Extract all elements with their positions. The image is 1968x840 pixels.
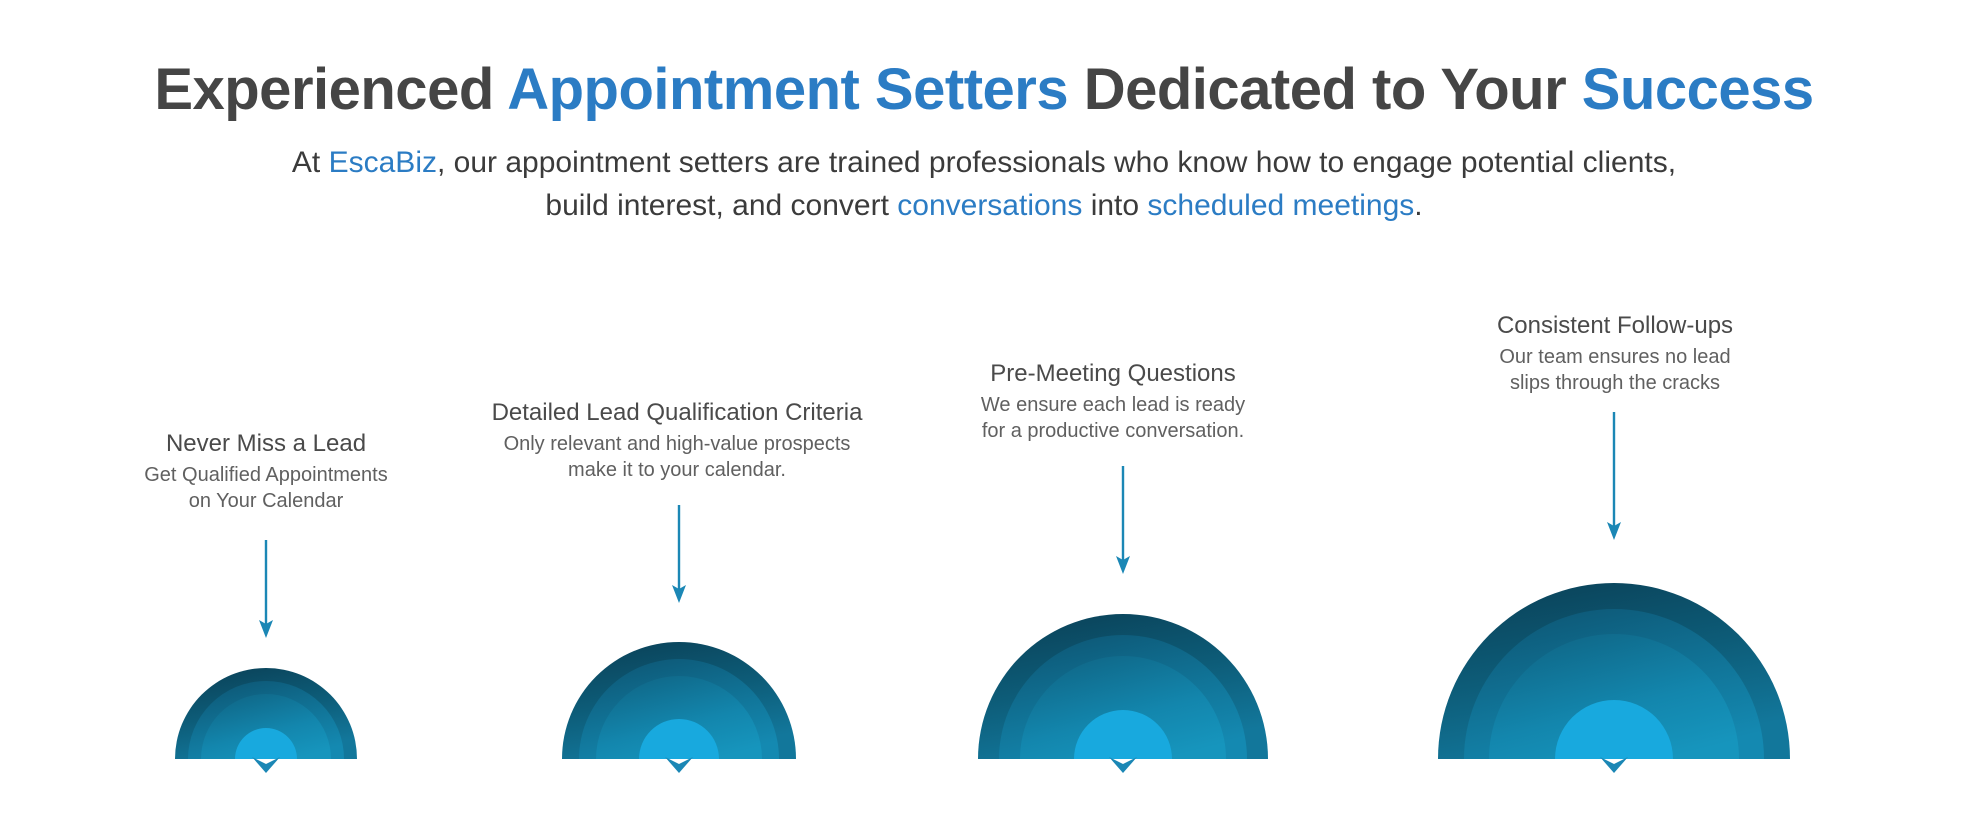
semicircle-gradient-icon bbox=[562, 641, 796, 759]
feature-description-line-1: Our team ensures no lead bbox=[1499, 346, 1730, 368]
subtitle-l2-part-3: into bbox=[1082, 189, 1147, 222]
dome-chevron-4 bbox=[1598, 757, 1630, 775]
feature-description-line-1: We ensure each lead is ready bbox=[981, 394, 1245, 416]
semicircle-gradient-icon bbox=[1438, 582, 1790, 759]
feature-title: Never Miss a Lead bbox=[56, 428, 476, 459]
feature-consistent-follow-ups: Consistent Follow-ups Our team ensures n… bbox=[1405, 310, 1825, 396]
feature-never-miss-a-lead: Never Miss a Lead Get Qualified Appointm… bbox=[56, 428, 476, 514]
feature-description: Only relevant and high-value prospects m… bbox=[437, 432, 917, 483]
feature-description-line-1: Only relevant and high-value prospects bbox=[504, 433, 851, 455]
dome-chevron-2 bbox=[663, 757, 695, 775]
down-arrow-4 bbox=[1598, 412, 1630, 542]
headline-part-1: Experienced bbox=[154, 57, 507, 122]
feature-description-line-2: for a productive conversation. bbox=[982, 420, 1244, 442]
feature-description: Get Qualified Appointments on Your Calen… bbox=[56, 463, 476, 514]
headline-part-3: Dedicated to Your bbox=[1068, 57, 1582, 122]
page-title: Experienced Appointment Setters Dedicate… bbox=[0, 57, 1968, 124]
down-arrow-icon bbox=[250, 540, 282, 640]
feature-title: Consistent Follow-ups bbox=[1405, 310, 1825, 341]
subtitle-line-2: build interest, and convert conversation… bbox=[0, 185, 1968, 228]
subtitle-l1-part-3: , our appointment setters are trained pr… bbox=[437, 146, 1676, 179]
subtitle-link-escabiz[interactable]: EscaBiz bbox=[329, 146, 437, 179]
feature-detailed-lead-qualification-criteria: Detailed Lead Qualification Criteria Onl… bbox=[437, 397, 917, 483]
dome-shape-4 bbox=[1438, 582, 1790, 759]
down-arrow-icon bbox=[1598, 412, 1630, 542]
down-arrow-2 bbox=[663, 505, 695, 605]
chevron-down-icon bbox=[1598, 757, 1630, 775]
marketing-hero-section: Experienced Appointment Setters Dedicate… bbox=[0, 0, 1968, 840]
down-arrow-1 bbox=[250, 540, 282, 640]
chevron-down-icon bbox=[250, 757, 282, 775]
subtitle-link-scheduled-meetings[interactable]: scheduled meetings bbox=[1147, 189, 1414, 222]
dome-shape-1 bbox=[175, 667, 357, 759]
feature-description: We ensure each lead is ready for a produ… bbox=[903, 393, 1323, 444]
semicircle-gradient-icon bbox=[978, 613, 1268, 759]
down-arrow-icon bbox=[663, 505, 695, 605]
dome-shape-2 bbox=[562, 641, 796, 759]
chevron-down-icon bbox=[1107, 757, 1139, 775]
feature-description-line-2: on Your Calendar bbox=[189, 490, 344, 512]
subtitle-l2-part-5: . bbox=[1414, 189, 1422, 222]
chevron-down-icon bbox=[663, 757, 695, 775]
feature-title: Detailed Lead Qualification Criteria bbox=[437, 397, 917, 428]
subtitle-l2-part-1: build interest, and convert bbox=[545, 189, 897, 222]
down-arrow-icon bbox=[1107, 466, 1139, 576]
subtitle-l1-part-1: At bbox=[292, 146, 329, 179]
headline-part-2-accent: Appointment Setters bbox=[507, 57, 1068, 122]
dome-shape-3 bbox=[978, 613, 1268, 759]
headline-part-4-accent: Success bbox=[1582, 57, 1814, 122]
subtitle-link-conversations[interactable]: conversations bbox=[897, 189, 1082, 222]
dome-chevron-1 bbox=[250, 757, 282, 775]
feature-description-line-2: slips through the cracks bbox=[1510, 372, 1720, 394]
dome-chevron-3 bbox=[1107, 757, 1139, 775]
subtitle-line-1: At EscaBiz, our appointment setters are … bbox=[0, 142, 1968, 185]
feature-description-line-1: Get Qualified Appointments bbox=[144, 464, 387, 486]
feature-pre-meeting-questions: Pre-Meeting Questions We ensure each lea… bbox=[903, 358, 1323, 444]
page-subtitle: At EscaBiz, our appointment setters are … bbox=[0, 142, 1968, 227]
semicircle-gradient-icon bbox=[175, 667, 357, 759]
feature-description-line-2: make it to your calendar. bbox=[568, 459, 786, 481]
down-arrow-3 bbox=[1107, 466, 1139, 576]
feature-description: Our team ensures no lead slips through t… bbox=[1405, 345, 1825, 396]
feature-title: Pre-Meeting Questions bbox=[903, 358, 1323, 389]
